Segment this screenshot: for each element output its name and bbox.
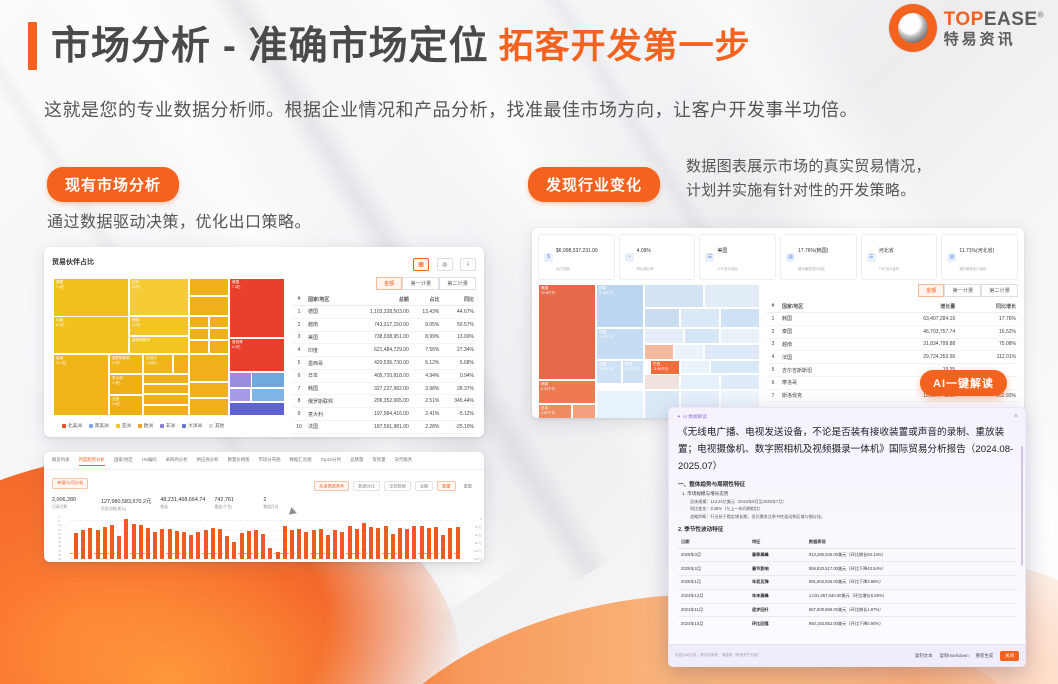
treemap-cell[interactable] [596, 390, 644, 418]
cell-index: 2 [766, 325, 780, 338]
chart-bar[interactable] [218, 529, 222, 559]
analysis-tab[interactable]: 数量价格图 [228, 457, 250, 466]
chart-bar[interactable] [312, 530, 316, 559]
treemap-cell[interactable] [704, 344, 760, 360]
cell-share: 3.98% [411, 382, 442, 395]
treemap-cell[interactable]: 越南3.18千万 [596, 284, 644, 328]
cell-share: 4.94% [411, 369, 442, 382]
chart-bar[interactable] [204, 530, 208, 559]
legend-item[interactable]: 亚洲 [116, 423, 131, 429]
treemap-cell[interactable] [680, 360, 710, 374]
cell-yoy-growth: 16.52% [957, 325, 1018, 338]
cell-index: 1 [292, 306, 306, 319]
table-row[interactable]: 4印度621,484,729.007.56%27.34% [292, 344, 476, 357]
report-subsection-heading: 2. 季节性波动特征 [678, 525, 1016, 533]
chart-bar[interactable] [304, 532, 308, 559]
legend-item[interactable]: 北美洲 [62, 423, 82, 429]
partner-table: 金额 第一计量 第二计量 # 国家/地区 总额 占比 同比 1德国1,103,3… [292, 277, 476, 437]
cell-share: 5.12% [411, 357, 442, 370]
analysis-tab[interactable]: 品牌量 [350, 457, 363, 466]
legend-swatch [209, 424, 213, 428]
col-index: # [292, 293, 306, 306]
treemap-cell[interactable] [173, 354, 189, 374]
cell-index: 1 [766, 313, 780, 326]
chart-bar[interactable] [74, 533, 78, 559]
cell-date: 2024年11月 [678, 603, 749, 617]
treemap-legend: 北美洲南美洲亚洲欧洲非洲大洋洲其他 [52, 417, 286, 429]
treemap-cell-value: 1.55亿 [146, 361, 157, 366]
chart-bar[interactable] [168, 529, 172, 559]
col-total: 总额 [348, 293, 411, 306]
chart-bar[interactable] [110, 525, 114, 559]
treemap-cell[interactable] [143, 384, 189, 394]
badge-existing-market-analysis: 现有市场分析 [47, 167, 179, 202]
table-row[interactable]: 1德国1,103,328,503.0013.43%44.67% [292, 306, 476, 319]
chart-bar[interactable] [146, 528, 150, 559]
kpi-value: 河北省 [879, 248, 894, 254]
chart-bar[interactable] [412, 526, 416, 559]
cell-country[interactable]: 法国 [780, 351, 866, 364]
stat-value: 742,761 [214, 497, 254, 503]
treemap-cell[interactable] [189, 316, 209, 328]
kpi-card[interactable]: ☰河北省TOP出口省份 [861, 234, 938, 280]
chart-bar[interactable] [175, 531, 179, 559]
treemap-cell[interactable]: 法国1.8亿 [109, 395, 143, 416]
stat-label: 记录总数 [52, 505, 92, 510]
legend-item[interactable]: 大洋洲 [182, 423, 202, 429]
cell-data: 967,509,669.00美元（环比增长1.87%） [806, 603, 1016, 617]
treemap-cell[interactable] [189, 278, 229, 296]
ai-interpretation-dialog: ✦ AI 数据解读 × 《无线电广播、电视发送设备，不论是否装有接收装置或声音的… [668, 407, 1026, 667]
treemap-cell[interactable] [209, 316, 229, 328]
list-icon: ☰ [867, 253, 876, 262]
chart-bar[interactable] [434, 527, 438, 559]
analysis-tab[interactable]: 贸易量 [372, 457, 385, 466]
treemap-cell[interactable] [189, 382, 229, 398]
report-title: 《无线电广播、电视发送设备，不论是否装有接收装置或声音的录制、重放装置；电视摄像… [678, 424, 1016, 475]
treemap-cell-value: 1.87千万 [625, 367, 639, 372]
dialog-action-button[interactable]: 关闭 [1000, 651, 1019, 661]
treemap-cell[interactable]: 俄罗斯联邦 [129, 336, 189, 354]
treemap-cell-value: 22.8千万 [541, 291, 555, 296]
chart-bar[interactable] [189, 535, 193, 559]
table-row[interactable]: 8俄罗斯联邦206,352,065.002.51%345.44% [292, 395, 476, 408]
dialog-header: ✦ AI 数据解读 × [669, 408, 1025, 422]
y-axis-tick: 30 [58, 540, 61, 544]
col-date: 日期 [678, 536, 749, 549]
treemap-cell[interactable] [143, 374, 189, 384]
caption-right-line1: 数据图表展示市场的真实贸易情况， [686, 155, 931, 179]
analysis-tab[interactable]: 货代服务 [395, 457, 413, 466]
cell-country[interactable]: 俄罗斯联邦 [306, 395, 348, 408]
cell-country[interactable]: 泰国 [780, 325, 866, 338]
tab-amount[interactable]: 金额 [918, 284, 944, 297]
cell-date: 2024年10月 [678, 617, 749, 627]
kpi-value: 美国 [717, 248, 727, 254]
y-axis-right-tick: 90 亿 [475, 541, 482, 545]
gridline [70, 520, 458, 521]
treemap-cell-value: 6.2亿 [56, 323, 65, 328]
col-index: # [766, 300, 780, 313]
treemap-cell[interactable]: 德国2.97千万 [596, 328, 644, 360]
legend-swatch [116, 424, 120, 428]
chart-bar[interactable] [376, 528, 380, 559]
cell-total: 206,352,065.00 [348, 395, 411, 408]
summary-stat: 742,761重量(千克) [214, 497, 263, 512]
page-title-main: 市场分析 - 准确市场定位 [51, 27, 489, 66]
treemap-cell-value: 4.67千万 [541, 411, 555, 416]
treemap-cell[interactable] [143, 405, 189, 416]
treemap-cell[interactable] [189, 354, 229, 382]
caption-left: 通过数据驱动决策，优化出口策略。 [47, 208, 311, 232]
treemap-cell[interactable] [674, 344, 704, 360]
chart-bar[interactable] [261, 534, 265, 559]
cell-country[interactable]: 美国 [306, 331, 348, 344]
treemap-cell[interactable]: 西班牙1.55亿 [143, 354, 173, 374]
legend-swatch [138, 424, 142, 428]
tab-amount[interactable]: 金额 [376, 277, 402, 290]
toolbar-chip[interactable]: 重量 [460, 482, 476, 490]
legend-label: 大洋洲 [188, 423, 202, 429]
analysis-tab[interactable]: 月度趋势分析 [79, 457, 105, 466]
page-title: 市场分析 - 准确市场定位 拓客开发第一步 [28, 22, 751, 70]
cell-country[interactable]: 斯洛伐克 [780, 389, 866, 402]
cell-data: 1,031,657,040.00美元（环比增长6.58%） [806, 589, 1016, 603]
legend-item[interactable]: 欧洲 [138, 423, 153, 429]
chart-bar[interactable] [283, 526, 287, 559]
treemap-cell[interactable] [251, 388, 285, 402]
legend-label: 非洲 [166, 423, 175, 429]
treemap-cell[interactable]: 日本4.67千万 [538, 404, 572, 418]
kpi-label: TOP进口地区 [717, 267, 737, 271]
filter-chip[interactable]: 单据/公司分析 [52, 478, 88, 489]
cell-data: 559,820,517.00美元（环比下降43.54%） [806, 562, 1016, 576]
treemap-cell[interactable] [229, 388, 251, 402]
treemap-cell[interactable] [143, 394, 189, 405]
tab-second-measure[interactable]: 第二计量 [981, 284, 1018, 297]
chart-bar[interactable] [96, 530, 100, 559]
treemap-cell[interactable] [644, 308, 680, 328]
treemap-cell[interactable] [644, 374, 680, 390]
col-yoy-growth: 同比增长 [957, 300, 1018, 313]
cell-index: 4 [766, 351, 780, 364]
chart-bar[interactable] [160, 529, 164, 559]
cell-date: 2025年3月 [678, 548, 749, 562]
treemap-cell[interactable] [189, 296, 229, 316]
cell-growth: 31,834,799.88 [866, 338, 957, 351]
toolbar-chip[interactable]: 共享筛选条件 [314, 481, 349, 491]
chart-bar[interactable] [456, 527, 460, 559]
treemap-cell[interactable]: 泰国1.87千万 [622, 360, 644, 384]
cell-index: 6 [292, 369, 306, 382]
table-row[interactable]: 10法国187,591,981.002.28%-25.10% [292, 421, 476, 434]
dialog-content[interactable]: 《无线电广播、电视发送设备，不论是否装有接收装置或声音的录制、重放装置；电视摄像… [669, 422, 1025, 627]
partner-data-table: # 国家/地区 总额 占比 同比 1德国1,103,328,503.0013.4… [292, 293, 476, 434]
cell-share: 8.99% [411, 331, 442, 344]
badge-industry-change: 发现行业变化 [528, 167, 660, 202]
chart-bar[interactable] [441, 535, 445, 559]
ai-interpret-button[interactable]: AI一键解读 [920, 370, 1007, 396]
legend-item[interactable]: 非洲 [160, 423, 175, 429]
treemap-cell[interactable] [209, 328, 229, 340]
chart-bar[interactable] [362, 523, 366, 559]
cell-total: 197,984,416.00 [348, 408, 411, 421]
kpi-card[interactable]: ☰美国TOP进口地区 [699, 234, 776, 280]
cell-total: 420,536,730.00 [348, 357, 411, 370]
treemap-cell[interactable] [189, 340, 209, 354]
chart-bar[interactable] [117, 536, 121, 559]
kpi-value: 17.76%(韩国) [798, 248, 828, 254]
treemap-cell[interactable] [189, 328, 209, 340]
chart-bar[interactable] [196, 532, 200, 559]
chart-bar[interactable] [333, 530, 337, 559]
treemap-cell-value: 1.9亿 [112, 381, 121, 386]
kpi-label: 增长最快进口地区 [798, 267, 825, 271]
treemap-cell[interactable] [680, 374, 720, 390]
kpi-card[interactable]: ◔4.09%同比增长率 [619, 234, 696, 280]
legend-label: 其他 [215, 423, 224, 429]
treemap-cell[interactable]: 韩国6.34千万 [538, 380, 596, 404]
treemap-cell[interactable] [644, 328, 684, 344]
cell-country[interactable]: 越南 [780, 338, 866, 351]
chart-bar[interactable] [225, 536, 229, 559]
kpi-label: 出口总额 [556, 267, 570, 271]
chart-bar[interactable] [340, 532, 344, 559]
treemap-cell[interactable] [680, 308, 720, 328]
legend-swatch [182, 424, 186, 428]
treemap-cell[interactable]: 俄罗斯联邦2.0亿 [109, 354, 143, 374]
treemap-cell[interactable]: 日本4.0亿 [129, 278, 189, 316]
analysis-tab[interactable]: 数据汇总图 [290, 457, 312, 466]
chart-bar[interactable] [355, 529, 359, 559]
table-row[interactable]: 6日本405,720,818.004.94%0.94% [292, 369, 476, 382]
table-row[interactable]: 7韩国327,237,982.003.98%28.37% [292, 382, 476, 395]
analysis-tab[interactable]: 国家/地区 [114, 457, 133, 466]
market-growth-panel: $$6,998,337,231.00出口总额◔4.09%同比增长率☰美国TOP进… [532, 228, 1024, 418]
brand-logo: TOPEASE® 特易资讯 [889, 4, 1044, 52]
treemap-chart: 德国7.4亿印度6.2亿日本4.0亿韩国3.2亿俄罗斯联邦越南11.0亿俄罗斯联… [52, 277, 286, 417]
logo-ease-text: EASE [984, 9, 1038, 30]
tab-first-measure[interactable]: 第一计量 [944, 284, 981, 297]
clock-icon: ◔ [625, 253, 634, 262]
caption-right-line2: 计划并实施有针对性的开发策略。 [686, 179, 931, 203]
chart-bar[interactable] [348, 526, 352, 559]
summary-stat: 48,231,468,664.74数量 [160, 497, 214, 512]
treemap-cell[interactable]: 法国1.93千万 [596, 360, 622, 384]
logo-english: TOPEASE® [944, 10, 1044, 29]
cell-country[interactable]: 韩国 [306, 382, 348, 395]
tab-second-measure[interactable]: 第二计量 [439, 277, 476, 290]
chart-bar[interactable] [139, 525, 143, 559]
chart-bar[interactable] [427, 528, 431, 559]
chart-bar[interactable] [420, 526, 424, 559]
table-row[interactable]: 2越南743,317,150.009.05%50.57% [292, 318, 476, 331]
chart-bar[interactable] [369, 527, 373, 559]
toolbar-chip[interactable]: 数量 [437, 481, 455, 491]
treemap-cell[interactable] [720, 374, 760, 390]
kpi-card[interactable]: $$6,998,337,231.00出口总额 [538, 234, 615, 280]
logo-ring-icon [889, 4, 937, 52]
analysis-tab[interactable]: 市场分布图 [259, 457, 281, 466]
cell-total: 405,720,818.00 [348, 369, 411, 382]
treemap-cell-label: 俄罗斯联邦 [132, 338, 150, 343]
table-row[interactable]: 1韩国63,407,284.1917.76% [766, 313, 1018, 326]
chart-bar[interactable] [88, 528, 92, 559]
analysis-tab[interactable]: Top10分析 [320, 457, 341, 466]
table-row[interactable]: 4法国29,724,353.56112.01% [766, 351, 1018, 364]
chart-bar[interactable] [405, 529, 409, 559]
registered-mark-icon: ® [1038, 10, 1044, 19]
scrollbar-thumb[interactable] [1021, 446, 1024, 566]
treemap-cell[interactable] [684, 328, 720, 344]
kpi-label: 增长最快出口省份 [959, 267, 986, 271]
chart-bar[interactable] [319, 529, 323, 559]
treemap-cell[interactable] [251, 372, 285, 388]
chart-bar[interactable] [232, 542, 236, 559]
dialog-action-button[interactable]: 重新生成 [976, 653, 994, 659]
legend-item[interactable]: 南美洲 [89, 423, 109, 429]
chart-bar[interactable] [391, 534, 395, 559]
y-axis-tick: 20 [58, 532, 61, 536]
treemap-cell[interactable]: 美国7.3亿 [229, 278, 285, 338]
legend-label: 北美洲 [68, 423, 82, 429]
list-icon: ☰ [705, 253, 714, 262]
table-row[interactable]: 9意大利197,984,416.002.41%-5.12% [292, 408, 476, 421]
chart-bar[interactable] [290, 530, 294, 559]
cell-index: 3 [766, 338, 780, 351]
cell-yoy-growth: 112.01% [957, 351, 1018, 364]
chart-bar[interactable] [132, 524, 136, 559]
table-row[interactable]: 3美国738,938,951.008.99%13.00% [292, 331, 476, 344]
toolbar-chip[interactable]: 金额 [415, 481, 433, 491]
analysis-tab[interactable]: 供应商分析 [197, 457, 219, 466]
treemap-cell[interactable] [209, 340, 229, 354]
treemap-cell[interactable]: 韩国3.2亿 [129, 316, 189, 336]
cell-country[interactable]: 意大利 [306, 408, 348, 421]
treemap-cell[interactable] [710, 360, 760, 374]
cell-index: 10 [292, 421, 306, 434]
treemap-cell[interactable] [704, 284, 760, 308]
treemap-cell-value: 4.0亿 [132, 285, 141, 290]
analysis-tab[interactable]: 概览列表 [52, 457, 70, 466]
dialog-action-button[interactable]: 复制markdown [940, 653, 969, 659]
cell-yoy: 345.44% [441, 395, 476, 408]
treemap-cell[interactable] [572, 404, 596, 418]
summary-stat: 2,006,280记录总数 [52, 497, 101, 512]
dialog-action-button[interactable]: 复制文本 [915, 653, 933, 659]
toolbar-chip[interactable]: 全部数据 [384, 481, 411, 491]
download-icon[interactable]: ⇩ [460, 258, 476, 271]
growth-table: 金额 第一计量 第二计量 # 国家/地区 增长量 同比增长 1韩国63,407,… [766, 284, 1018, 418]
treemap-cell[interactable] [189, 398, 229, 416]
table-row: 2024年12月年末高峰1,031,657,040.00美元（环比增长6.58%… [678, 589, 1016, 603]
logo-text: TOPEASE® 特易资讯 [944, 10, 1044, 47]
kpi-value: $6,998,337,231.00 [556, 248, 598, 254]
chart-bar[interactable] [254, 530, 258, 559]
cell-country[interactable]: 韩国 [780, 313, 866, 326]
treemap-cell[interactable] [720, 328, 760, 344]
panel-subbar: 单据/公司分析 共享筛选条件数据对比全部数据金额数量重量 [44, 470, 484, 492]
table-row[interactable]: 5墨西哥420,536,730.005.12%5.68% [292, 357, 476, 370]
kpi-text: 4.09%同比增长率 [637, 239, 654, 275]
cell-index: 7 [292, 382, 306, 395]
chart-bar[interactable] [326, 535, 330, 559]
chart-bar[interactable] [153, 532, 157, 559]
analysis-tab[interactable]: HS编码 [142, 457, 157, 466]
treemap-cell[interactable]: 墨西哥4.2亿 [229, 338, 285, 372]
cell-country[interactable]: 吉尔吉斯斯坦 [780, 364, 866, 377]
kpi-label: TOP出口省份 [879, 267, 899, 271]
chart-bar[interactable] [268, 548, 272, 559]
chart-bar[interactable] [384, 526, 388, 559]
panel-body: 德国7.4亿印度6.2亿日本4.0亿韩国3.2亿俄罗斯联邦越南11.0亿俄罗斯联… [44, 272, 484, 437]
analysis-tab[interactable]: 采购商分析 [166, 457, 188, 466]
kpi-card[interactable]: ▨11.71%(河北省)增长最快出口省份 [941, 234, 1018, 280]
chart-bar[interactable] [124, 519, 128, 559]
chart-bar[interactable] [276, 552, 280, 559]
grid-view-icon[interactable]: ▦ [413, 258, 429, 271]
treemap-cell[interactable]: 美国22.8千万 [538, 284, 596, 380]
treemap-cell[interactable] [229, 402, 285, 416]
cell-country[interactable]: 德国 [306, 306, 348, 319]
cell-country[interactable]: 法国 [306, 421, 348, 434]
caption-right: 数据图表展示市场的真实贸易情况， 计划并实施有针对性的开发策略。 [686, 155, 931, 203]
chart-bar[interactable] [297, 529, 301, 559]
y-axis-right-tick: 60 亿 [475, 533, 482, 537]
chart-bar[interactable] [211, 528, 215, 559]
chart-bar[interactable] [448, 528, 452, 559]
summary-stats: 2,006,280记录总数127,980,583,670.2元贸易总额(美元)4… [44, 492, 484, 512]
kpi-text: $6,998,337,231.00出口总额 [556, 239, 598, 275]
treemap-cell-value: 4.2亿 [232, 345, 241, 350]
table-row[interactable]: 2泰国46,703,757.7416.52% [766, 325, 1018, 338]
kpi-text: 河北省TOP出口省份 [879, 239, 899, 275]
cell-yoy: 13.00% [441, 331, 476, 344]
chart-bar[interactable] [398, 528, 402, 559]
table-header-row: # 国家/地区 总额 占比 同比 [292, 293, 476, 306]
treemap-cell[interactable]: 印度6.2亿 [53, 316, 129, 354]
treemap-cell[interactable]: 意大利1.9亿 [109, 374, 143, 395]
treemap-cell[interactable] [644, 284, 704, 308]
cell-date: 2025年1月 [678, 576, 749, 590]
table-row[interactable]: 3越南31,834,799.8875.08% [766, 338, 1018, 351]
pie-view-icon[interactable]: ◍ [437, 258, 453, 271]
close-icon[interactable]: × [1014, 413, 1018, 420]
tab-first-measure[interactable]: 第一计量 [402, 277, 439, 290]
legend-item[interactable]: 其他 [209, 423, 224, 429]
toolbar-chip[interactable]: 数据对比 [353, 481, 380, 491]
cell-country[interactable]: 日本 [306, 369, 348, 382]
chart-bar[interactable] [240, 533, 244, 559]
treemap-cell-value: 3.2亿 [132, 323, 141, 328]
chart-bar[interactable] [247, 531, 251, 559]
treemap-cell[interactable]: 越南11.0亿 [53, 354, 109, 416]
kpi-card[interactable]: ▨17.76%(韩国)增长最快进口地区 [780, 234, 857, 280]
chart-bar[interactable] [81, 530, 85, 559]
y-axis-tick: 5 [58, 519, 60, 523]
y-axis-tick: 45 [58, 553, 61, 557]
cell-country[interactable]: 印度 [306, 344, 348, 357]
cell-country[interactable]: 越南 [306, 318, 348, 331]
chart-bar[interactable] [182, 532, 186, 559]
col-share: 占比 [411, 293, 442, 306]
chart-bar[interactable] [103, 527, 107, 559]
cell-country[interactable]: 摩洛哥 [780, 376, 866, 389]
cell-index: 7 [766, 389, 780, 402]
cell-country[interactable]: 墨西哥 [306, 357, 348, 370]
treemap-cell[interactable] [720, 308, 760, 328]
treemap-cell[interactable] [644, 344, 674, 360]
